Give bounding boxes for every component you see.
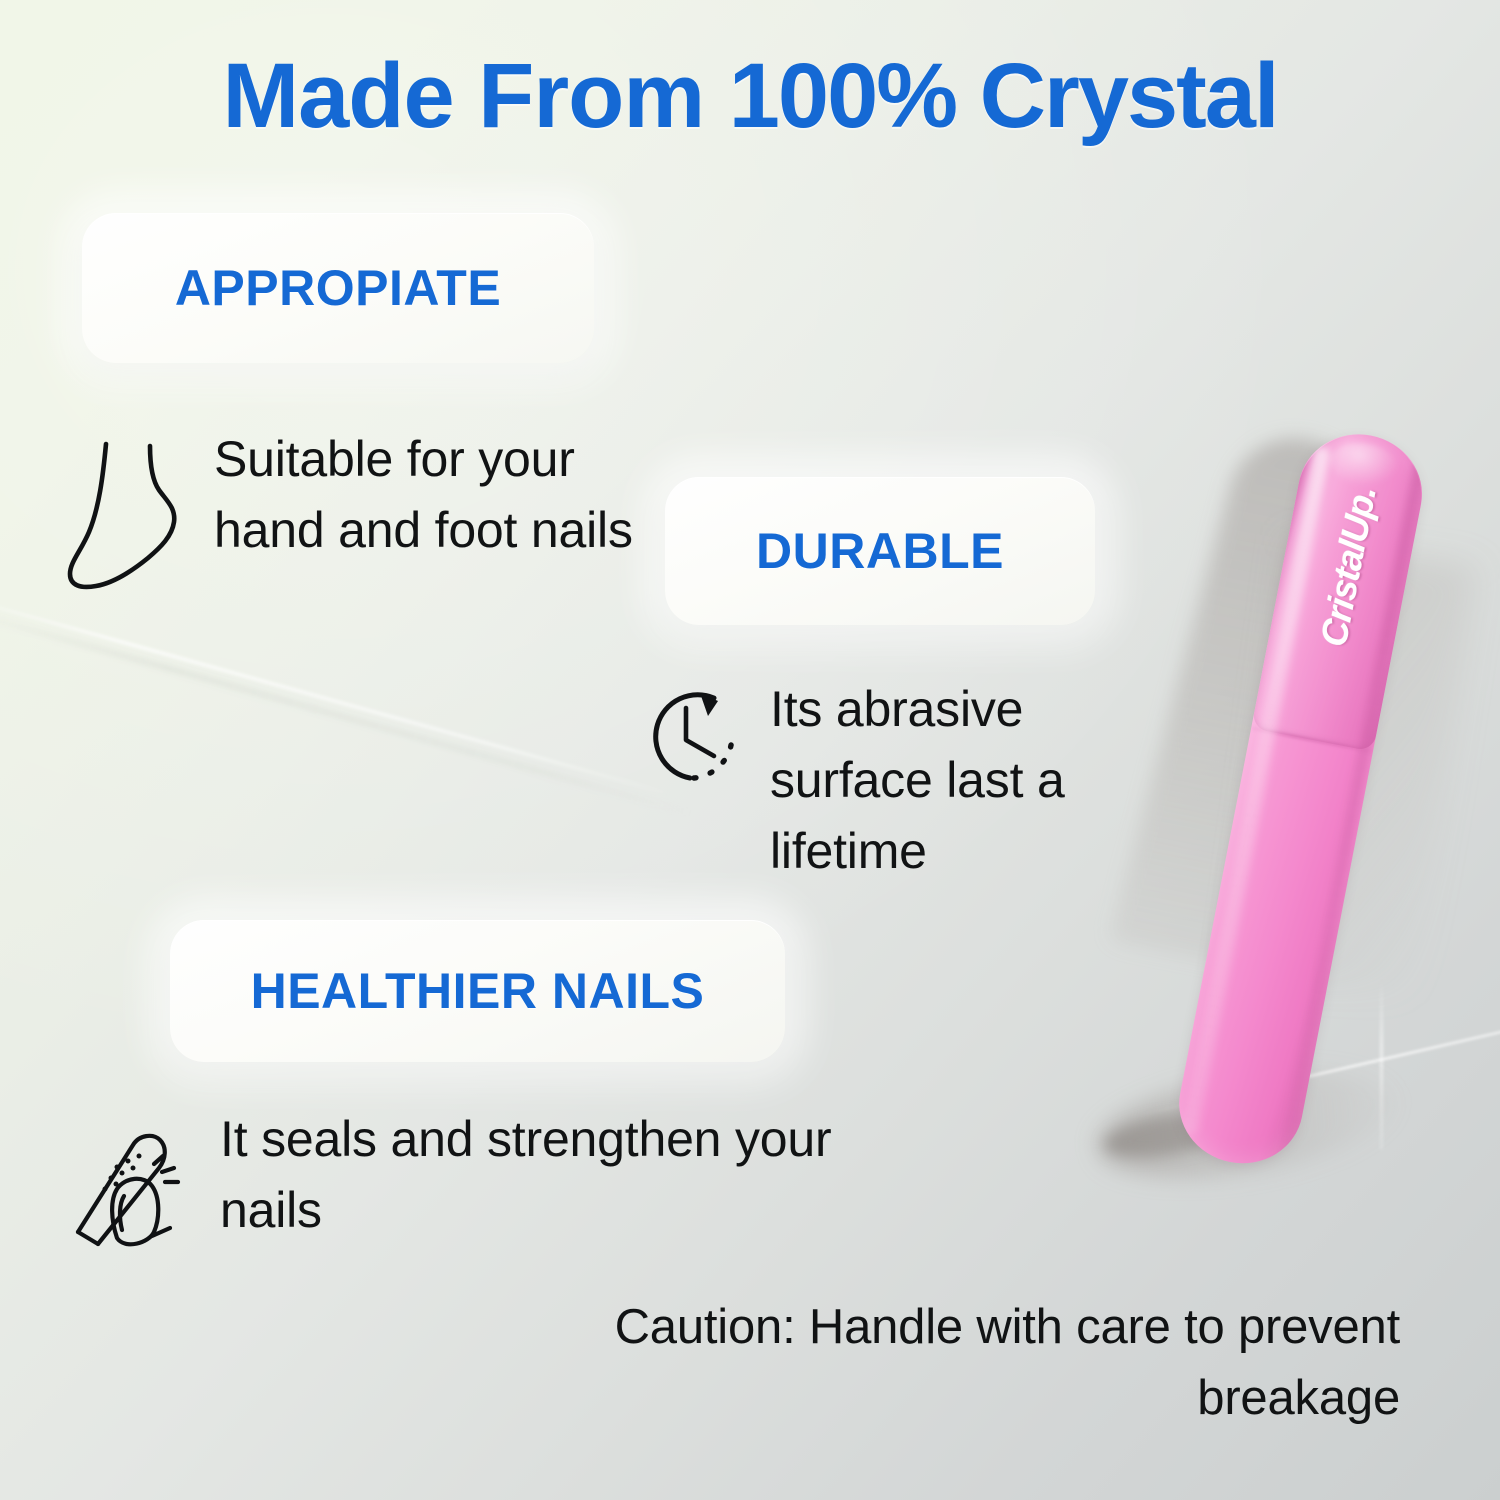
product-shadow-contact [1102,1106,1236,1164]
product-panel-edge [1251,726,1373,754]
product-branding-panel [1251,424,1432,752]
product-brand-label: CristalUp. [1305,446,1392,688]
nail-file-sparkle-icon [70,1120,198,1253]
product-tip-gloss [1326,437,1403,494]
product-edge-shade [1278,460,1427,1161]
product-shadow-floor [1090,1053,1401,1195]
feature-durable-text: Its abrasive surface last a lifetime [770,674,1100,887]
page-title: Made From 100% Crystal [0,48,1500,145]
wall-floor-seam-left-soft [0,602,692,816]
badge-durable: DURABLE [665,477,1095,625]
badge-durable-label: DURABLE [756,522,1004,580]
page-title-bold: 100% Crystal [729,45,1278,147]
feature-healthier-text: It seals and strengthen your nails [220,1104,880,1246]
wall-floor-seam-right [1135,1009,1500,1118]
badge-healthier-label: HEALTHIER NAILS [251,962,705,1020]
product-shadow-wall [1108,428,1369,965]
wall-corner-line [1380,980,1383,1150]
feature-suitable: Suitable for your hand and foot nails [62,424,634,601]
feature-durable: Its abrasive surface last a lifetime [636,674,1100,887]
feature-suitable-text: Suitable for your hand and foot nails [214,424,634,566]
foot-icon [62,436,192,601]
caution-note: Caution: Handle with care to prevent bre… [600,1292,1400,1433]
badge-appropiate-label: APPROPIATE [175,259,501,317]
badge-healthier: HEALTHIER NAILS [170,920,785,1062]
wall-floor-seam-left [0,590,673,796]
feature-healthier: It seals and strengthen your nails [70,1104,880,1253]
page-title-light: Made From [222,45,728,147]
clock-arrow-icon [636,680,748,797]
product-body: CristalUp. [1169,424,1432,1174]
infographic-canvas: Made From 100% Crystal APPROPIATE DURABL… [0,0,1500,1500]
badge-appropiate: APPROPIATE [82,213,594,363]
product-edge-highlight [1182,445,1331,1135]
product-shadow-wall-soft [1228,539,1477,1001]
